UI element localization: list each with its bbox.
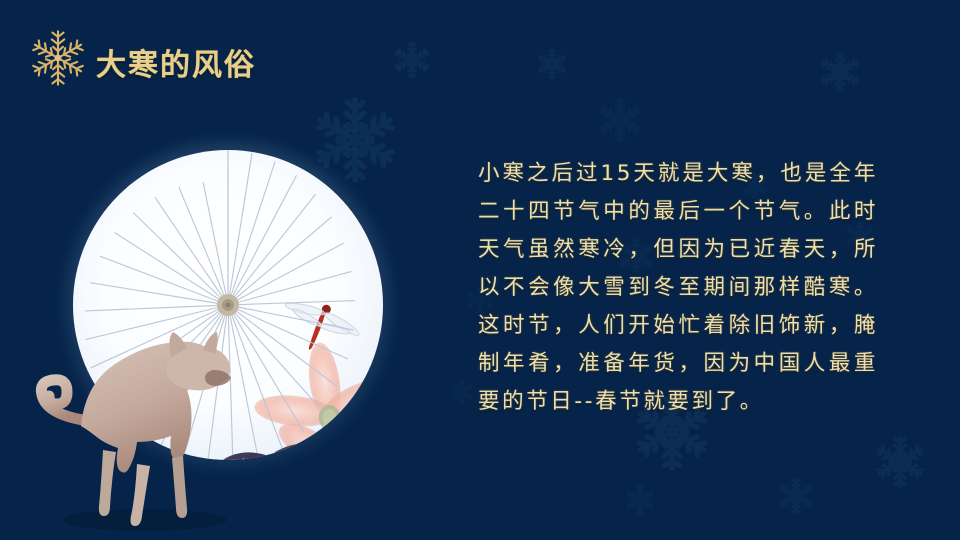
- body-paragraph-block: 小寒之后过15天就是大寒，也是全年二十四节气中的最后一个节气。此时天气虽然寒冷，…: [478, 155, 878, 421]
- snowflake-decoration: [871, 433, 929, 491]
- body-paragraph: 小寒之后过15天就是大寒，也是全年二十四节气中的最后一个节气。此时天气虽然寒冷，…: [478, 155, 878, 421]
- snowflake-decoration: [623, 483, 657, 517]
- snowflake-decoration: [449, 379, 475, 405]
- page-title: 大寒的风俗: [96, 40, 256, 84]
- slide-canvas: 大寒的风俗: [0, 0, 960, 540]
- reed-twigs-right: [355, 420, 407, 520]
- umbrella-hub: [217, 294, 239, 316]
- snowflake-icon: [27, 27, 89, 89]
- oil-paper-umbrella-illustration: [25, 120, 445, 540]
- slide-header: 大寒的风俗: [0, 0, 960, 110]
- snowflake-decoration: [776, 476, 816, 516]
